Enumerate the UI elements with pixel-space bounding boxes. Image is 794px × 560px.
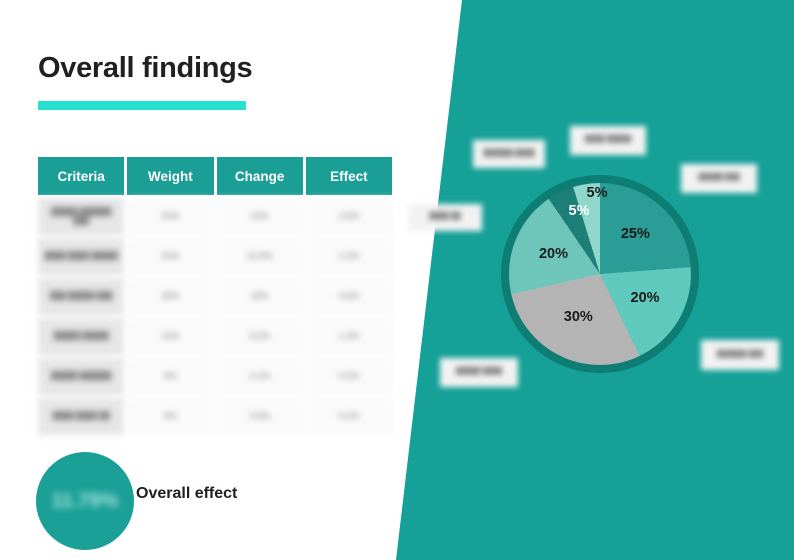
cell-change: 15% bbox=[217, 278, 303, 315]
cell-criteria: █████ ██████ bbox=[38, 358, 124, 395]
findings-table: Criteria Weight Change Effect █████ ████… bbox=[38, 157, 392, 435]
pie-label-25: 25% bbox=[613, 226, 657, 242]
title-underline-rule bbox=[38, 101, 246, 110]
cell-effect: 0.1% bbox=[306, 398, 392, 435]
cell-criteria: █████ █████ bbox=[38, 318, 124, 355]
column-header-criteria: Criteria bbox=[38, 157, 124, 195]
table-row: █████ ██████ 5% 4.1% 0.2% bbox=[38, 358, 392, 395]
table-row: █████ ██████ ███ 20% 13% 2.6% bbox=[38, 198, 392, 235]
cell-weight: 5% bbox=[127, 398, 213, 435]
cell-criteria: ████ ████ █████ bbox=[38, 238, 124, 275]
pie-label-5-dark-slice: 5% bbox=[557, 203, 601, 219]
cell-criteria: █████ ██████ ███ bbox=[38, 198, 124, 235]
cell-weight: 30% bbox=[127, 278, 213, 315]
cell-weight: 20% bbox=[127, 198, 213, 235]
pie-label-20-left: 20% bbox=[531, 246, 575, 262]
pie-chart: 25% 20% 30% 20% 5% 5% bbox=[501, 175, 699, 373]
cell-change: 9.2% bbox=[217, 318, 303, 355]
column-header-effect: Effect bbox=[306, 157, 392, 195]
table-row: ████ ████ █████ 20% 10.9% 2.2% bbox=[38, 238, 392, 275]
callout-box: █████ ████ bbox=[440, 358, 518, 387]
cell-effect: 4.5% bbox=[306, 278, 392, 315]
overall-effect-badge: 11.79% bbox=[36, 452, 134, 550]
table-row: ████ ████ ██ 5% 3.5% 0.1% bbox=[38, 398, 392, 435]
table-row: █████ █████ 15% 9.2% 1.4% bbox=[38, 318, 392, 355]
callout-box: ██████ ███ bbox=[701, 340, 779, 370]
cell-change: 13% bbox=[217, 198, 303, 235]
cell-criteria: ████ ████ ██ bbox=[38, 398, 124, 435]
slide: Overall findings Criteria Weight Change … bbox=[0, 0, 794, 560]
cell-effect: 2.2% bbox=[306, 238, 392, 275]
pie-label-20-right: 20% bbox=[623, 290, 667, 306]
page-title: Overall findings bbox=[38, 52, 252, 85]
column-header-change: Change bbox=[217, 157, 303, 195]
cell-change: 10.9% bbox=[217, 238, 303, 275]
cell-weight: 15% bbox=[127, 318, 213, 355]
callout-box: ████ ██ bbox=[408, 204, 482, 231]
pie-label-5-light-slice: 5% bbox=[575, 185, 619, 201]
cell-weight: 20% bbox=[127, 238, 213, 275]
cell-effect: 0.2% bbox=[306, 358, 392, 395]
column-header-weight: Weight bbox=[127, 157, 213, 195]
callout-box: ████ █████ bbox=[570, 126, 646, 155]
cell-effect: 2.6% bbox=[306, 198, 392, 235]
pie-label-30: 30% bbox=[556, 309, 600, 325]
callout-box: ██████ ████ bbox=[473, 140, 545, 168]
cell-effect: 1.4% bbox=[306, 318, 392, 355]
cell-weight: 5% bbox=[127, 358, 213, 395]
overall-effect-value: 11.79% bbox=[52, 490, 119, 513]
cell-criteria: ███ █████ ███ bbox=[38, 278, 124, 315]
cell-change: 3.5% bbox=[217, 398, 303, 435]
table-row: ███ █████ ███ 30% 15% 4.5% bbox=[38, 278, 392, 315]
cell-change: 4.1% bbox=[217, 358, 303, 395]
table-header-row: Criteria Weight Change Effect bbox=[38, 157, 392, 195]
overall-effect-label: Overall effect bbox=[136, 485, 237, 503]
callout-box: █████ ███ bbox=[681, 164, 757, 193]
